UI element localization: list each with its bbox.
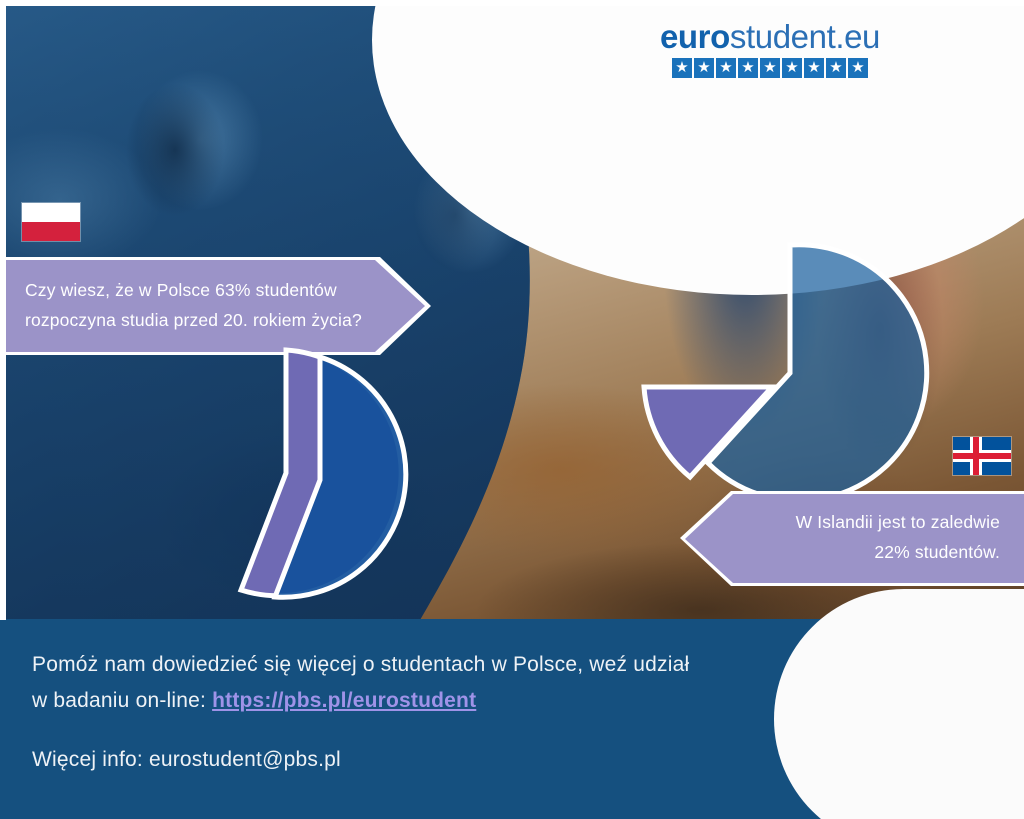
iceland-slice-78 — [708, 245, 927, 501]
iceland-bubble-line-2: 22% studentów. — [745, 537, 1000, 567]
star-icon — [782, 58, 802, 78]
logo-word-light: student.eu — [730, 18, 880, 55]
poland-pie-svg — [128, 340, 468, 602]
poland-bubble-line-1: Czy wiesz, że w Polsce 63% studentów — [25, 275, 367, 305]
banner-copy: Pomóż nam dowiedzieć się więcej o studen… — [32, 647, 772, 778]
eurostudent-logo: eurostudent.eu — [645, 20, 895, 78]
banner-line-3: Więcej info: eurostudent@pbs.pl — [32, 742, 772, 778]
banner-line-2: w badaniu on-line: https://pbs.pl/eurost… — [32, 683, 772, 719]
frame-edge-left — [0, 0, 6, 620]
iceland-flag-red-horizontal — [953, 453, 1011, 459]
bottom-banner: Pomóż nam dowiedzieć się więcej o studen… — [0, 619, 1024, 819]
poland-pie-chart — [128, 340, 468, 602]
poland-bubble-line-2: rozpoczyna studia przed 20. rokiem życia… — [25, 305, 367, 335]
star-icon — [716, 58, 736, 78]
logo-word-bold: euro — [660, 18, 730, 55]
poland-speech-bubble: Czy wiesz, że w Polsce 63% studentów roz… — [0, 260, 425, 352]
star-icon — [694, 58, 714, 78]
frame-edge-top — [0, 0, 1024, 6]
banner-white-arc — [774, 589, 1024, 819]
logo-wordmark: eurostudent.eu — [645, 20, 895, 53]
iceland-bubble-line-1: W Islandii jest to zaledwie — [745, 507, 1000, 537]
star-icon — [804, 58, 824, 78]
logo-stars — [645, 58, 895, 78]
banner-line-2-prefix: w badaniu on-line: — [32, 689, 212, 712]
banner-line-1: Pomóż nam dowiedzieć się więcej o studen… — [32, 647, 772, 683]
iceland-flag-red-vertical — [973, 437, 979, 475]
star-icon — [760, 58, 780, 78]
iceland-pie-svg — [640, 228, 930, 518]
star-icon — [848, 58, 868, 78]
survey-link[interactable]: https://pbs.pl/eurostudent — [212, 689, 476, 712]
infographic-poster: eurostudent.eu Czy wiesz, że w Polsce 63… — [0, 0, 1024, 819]
star-icon — [826, 58, 846, 78]
star-icon — [672, 58, 692, 78]
iceland-pie-chart — [640, 228, 930, 518]
poland-flag-icon — [22, 203, 80, 241]
iceland-speech-bubble: W Islandii jest to zaledwie 22% studentó… — [685, 494, 1024, 583]
iceland-flag-icon — [953, 437, 1011, 475]
star-icon — [738, 58, 758, 78]
